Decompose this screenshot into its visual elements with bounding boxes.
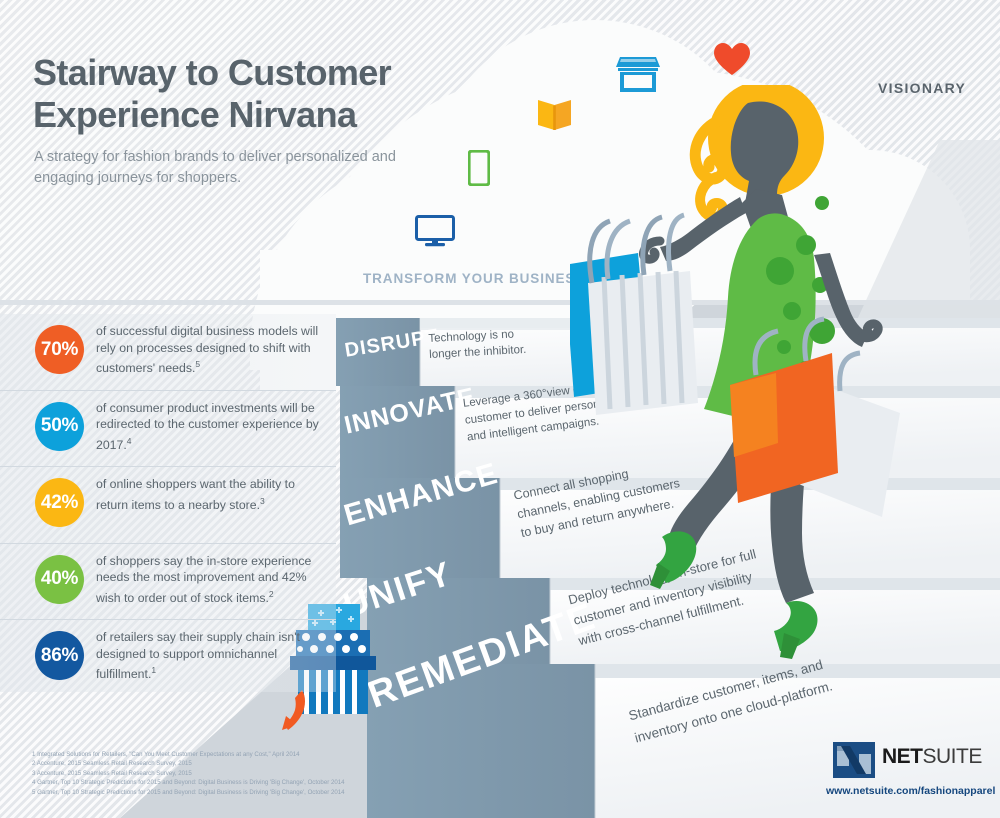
stat-row: 42% of online shoppers want the ability …: [0, 466, 336, 543]
stat-description-text: of retailers say their supply chain isn'…: [96, 630, 300, 681]
stat-footnote-marker: 1: [151, 665, 156, 675]
stat-percent-badge: 50%: [35, 402, 84, 451]
shopping-bags-right: [730, 319, 900, 517]
stat-row: 50% of consumer product investments will…: [0, 390, 336, 467]
stat-description: of shoppers say the in-store experience …: [96, 553, 328, 607]
stat-footnote-marker: 3: [260, 496, 265, 506]
netsuite-wordmark-bold: NET: [882, 745, 923, 768]
stat-row: 40% of shoppers say the in-store experie…: [0, 543, 336, 620]
stat-row: 86% of retailers say their supply chain …: [0, 619, 336, 696]
stat-description: of successful digital business models wi…: [96, 323, 328, 377]
shopper-illustration: [570, 85, 900, 745]
footnotes-list: 1 Integrated Solutions for Retailers, "C…: [32, 750, 432, 797]
footnote-item: 1 Integrated Solutions for Retailers, "C…: [32, 750, 432, 759]
stat-description: of consumer product investments will be …: [96, 400, 328, 454]
netsuite-wordmark: NETSUITE: [882, 745, 982, 769]
statistics-panel: 70% of successful digital business model…: [0, 314, 336, 692]
stat-description-text: of online shoppers want the ability to r…: [96, 477, 295, 512]
stat-percent-badge: 86%: [35, 631, 84, 680]
stat-footnote-marker: 2: [269, 589, 274, 599]
stat-description-text: of successful digital business models wi…: [96, 324, 318, 375]
website-url[interactable]: www.netsuite.com/fashionapparel: [826, 785, 995, 797]
stat-percent-badge: 42%: [35, 478, 84, 527]
netsuite-wordmark-light: SUITE: [923, 745, 982, 768]
footnote-item: 3 Accenture, 2015 Seamless Retail Resear…: [32, 769, 432, 778]
stat-description: of retailers say their supply chain isn'…: [96, 629, 328, 683]
stat-description-text: of shoppers say the in-store experience …: [96, 554, 311, 605]
stat-percent-badge: 70%: [35, 325, 84, 374]
infographic-canvas: Stairway to Customer Experience Nirvana …: [0, 0, 1000, 818]
footnote-item: 4 Gartner, Top 10 Strategic Predictions …: [32, 778, 432, 787]
stat-footnote-marker: 5: [195, 359, 200, 369]
stat-row: 70% of successful digital business model…: [0, 314, 336, 390]
netsuite-logo-icon: [833, 742, 875, 783]
stat-percent-badge: 40%: [35, 555, 84, 604]
footnote-item: 5 Gartner, Top 10 Strategic Predictions …: [32, 788, 432, 797]
footnote-item: 2 Accenture, 2015 Seamless Retail Resear…: [32, 759, 432, 768]
stat-description: of online shoppers want the ability to r…: [96, 476, 328, 513]
stat-footnote-marker: 4: [127, 436, 132, 446]
step-note-disrupt: Technology is no longer the inhibitor.: [428, 326, 527, 363]
